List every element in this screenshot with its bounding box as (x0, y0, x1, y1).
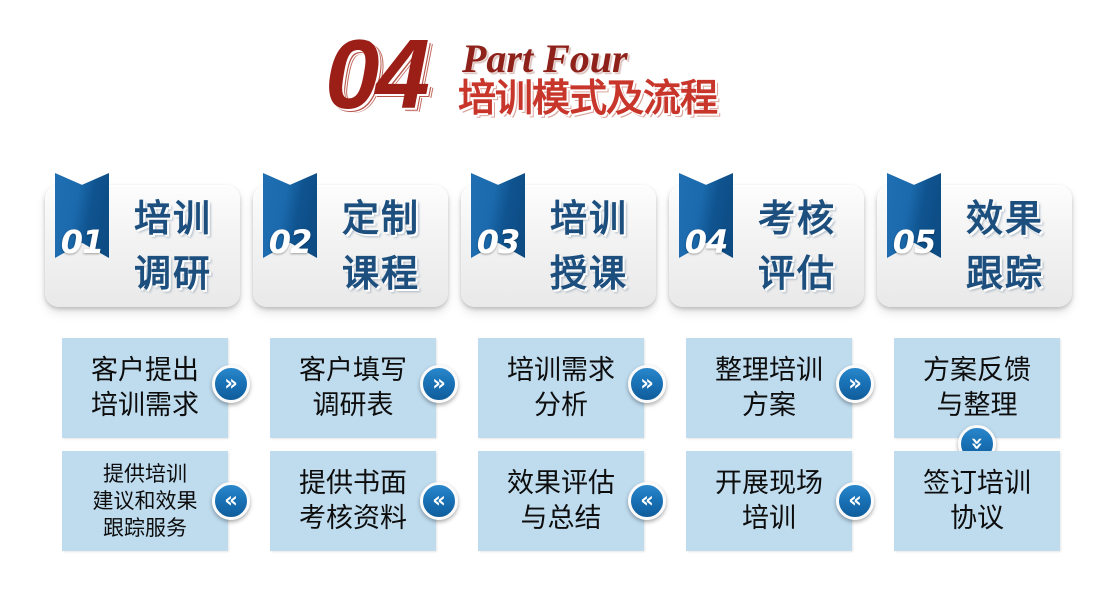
chevron-glyph: » (224, 373, 238, 394)
chevron-glyph: « (224, 490, 238, 511)
stage-title: 培训 授课 (527, 191, 651, 301)
chevron-left-icon: « (212, 482, 250, 520)
stage-title: 定制 课程 (319, 191, 443, 301)
chevron-left-icon: « (628, 482, 666, 520)
flow-step-label: 开展现场 培训 (715, 466, 823, 536)
chevron-left-icon: « (836, 482, 874, 520)
flow-step-backward-5[interactable]: 签订培训 协议 (894, 451, 1060, 551)
stage-card-04[interactable]: 04考核 评估 (669, 185, 864, 307)
flow-step-backward-2[interactable]: 提供书面 考核资料 (270, 451, 436, 551)
flow-step-forward-3[interactable]: 培训需求 分析 (478, 338, 644, 438)
section-number: 04 (325, 25, 426, 123)
section-part-label: Part Four (462, 38, 628, 80)
chevron-glyph: » (640, 373, 654, 394)
chevron-left-icon: « (420, 482, 458, 520)
flow-step-label: 整理培训 方案 (715, 353, 823, 423)
flow-step-forward-2[interactable]: 客户填写 调研表 (270, 338, 436, 438)
flow-step-forward-5[interactable]: 方案反馈 与整理 (894, 338, 1060, 438)
chevron-right-icon: » (420, 365, 458, 403)
flow-step-forward-1[interactable]: 客户提出 培训需求 (62, 338, 228, 438)
page-header: 04 Part Four 培训模式及流程 (0, 0, 1110, 150)
stage-number: 02 (263, 199, 317, 284)
stage-title: 效果 跟踪 (943, 191, 1067, 301)
chevron-glyph: » (848, 373, 862, 394)
chevron-right-icon: » (628, 365, 666, 403)
stage-number: 01 (55, 199, 109, 284)
flow-step-label: 签订培训 协议 (923, 466, 1031, 536)
section-subtitle: 培训模式及流程 (458, 76, 717, 120)
chevron-right-icon: » (212, 365, 250, 403)
stage-card-03[interactable]: 03培训 授课 (461, 185, 656, 307)
chevron-glyph: » (432, 373, 446, 394)
stage-number: 03 (471, 199, 525, 284)
flow-step-label: 提供培训 建议和效果 跟踪服务 (93, 461, 198, 542)
flow-step-label: 提供书面 考核资料 (299, 466, 407, 536)
stage-number: 05 (887, 199, 941, 284)
flow-step-label: 客户提出 培训需求 (91, 353, 199, 423)
stage-number: 04 (679, 199, 733, 284)
flow-step-label: 效果评估 与总结 (507, 466, 615, 536)
flow-step-backward-3[interactable]: 效果评估 与总结 (478, 451, 644, 551)
stage-card-02[interactable]: 02定制 课程 (253, 185, 448, 307)
chevron-glyph: » (966, 436, 987, 450)
stage-card-05[interactable]: 05效果 跟踪 (877, 185, 1072, 307)
stage-title: 考核 评估 (735, 191, 859, 301)
flow-step-label: 方案反馈 与整理 (923, 353, 1031, 423)
flow-step-backward-4[interactable]: 开展现场 培训 (686, 451, 852, 551)
chevron-glyph: « (848, 490, 862, 511)
stage-title: 培训 调研 (111, 191, 235, 301)
chevron-glyph: « (640, 490, 654, 511)
flow-step-label: 客户填写 调研表 (299, 353, 407, 423)
stage-card-01[interactable]: 01培训 调研 (45, 185, 240, 307)
flow-step-backward-1[interactable]: 提供培训 建议和效果 跟踪服务 (62, 451, 228, 551)
chevron-right-icon: » (836, 365, 874, 403)
chevron-glyph: « (432, 490, 446, 511)
flow-step-forward-4[interactable]: 整理培训 方案 (686, 338, 852, 438)
flow-step-label: 培训需求 分析 (507, 353, 615, 423)
